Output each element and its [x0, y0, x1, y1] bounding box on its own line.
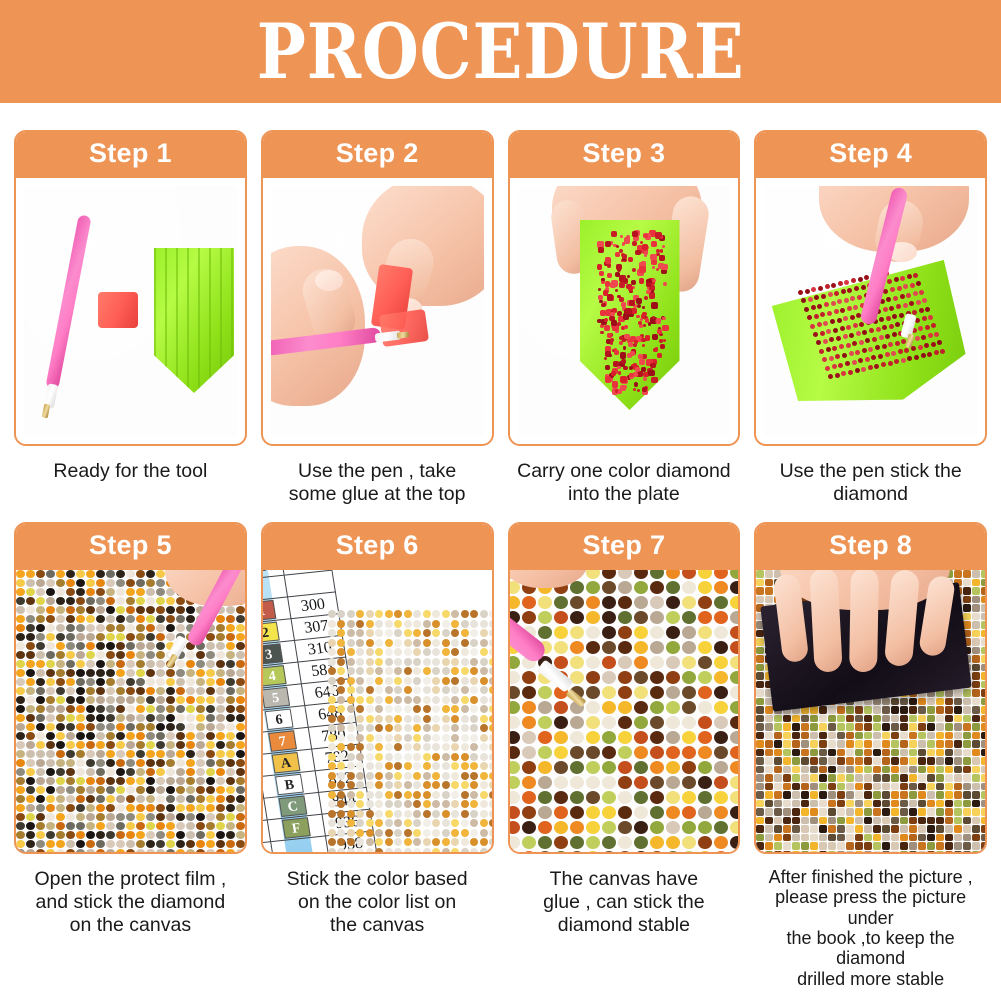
finger-icon	[849, 570, 879, 672]
diamond-bead	[375, 800, 383, 808]
diamond-bead	[756, 664, 764, 672]
diamond-bead	[819, 783, 827, 791]
diamond-bead	[873, 834, 881, 842]
diamond-bead	[922, 298, 927, 303]
diamond-bead	[650, 686, 664, 699]
diamond-bead	[828, 715, 836, 723]
diamond-bead	[570, 641, 584, 654]
diamond-bead	[849, 351, 854, 356]
diamond-bead	[36, 669, 45, 677]
diamond-bead	[634, 716, 648, 729]
diamond-bead	[16, 678, 25, 686]
diamond-bead	[226, 678, 235, 686]
diamond-bead	[356, 705, 364, 713]
diamond-bead	[126, 840, 135, 848]
diamond-bead	[337, 810, 345, 818]
diamond-bead	[892, 314, 897, 319]
diamond-bead	[470, 810, 478, 818]
diamond-bead	[730, 836, 739, 849]
diamond-bead	[927, 808, 935, 816]
diamond-bead	[586, 626, 600, 639]
diamond-bead	[66, 777, 75, 785]
diamond-bead	[909, 808, 917, 816]
diamond-bead	[882, 783, 890, 791]
diamond-bead	[522, 836, 536, 849]
diamond-bead	[470, 772, 478, 780]
diamond-bead	[489, 620, 492, 628]
diamond-bead	[634, 570, 648, 579]
diamond-bead	[844, 298, 849, 303]
diamond-bead	[347, 677, 355, 685]
diamond-bead	[356, 639, 364, 647]
diamond-bead	[470, 800, 478, 808]
diamond-bead	[919, 290, 924, 295]
diamond-bead	[522, 686, 536, 699]
diamond-bead	[522, 776, 536, 789]
diamond-bead	[356, 772, 364, 780]
diamond-bead	[489, 743, 492, 751]
diamond-bead	[586, 701, 600, 714]
diamond-bead	[730, 776, 739, 789]
diamond-bead	[86, 642, 95, 650]
diamond-bead	[972, 800, 980, 808]
diamond-bead	[650, 701, 664, 714]
diamond-bead	[106, 714, 115, 722]
diamond-bead	[116, 849, 125, 852]
diamond-bead	[819, 851, 827, 853]
diamond-bead	[432, 696, 440, 704]
diamond-bead	[637, 389, 640, 392]
diamond-bead	[206, 669, 215, 677]
diamond-bead	[413, 800, 421, 808]
diamond-bead	[66, 570, 75, 578]
diamond-bead	[461, 658, 469, 666]
diamond-bead	[236, 642, 245, 650]
diamond-bead	[423, 639, 431, 647]
diamond-bead	[226, 822, 235, 830]
diamond-bead	[216, 669, 225, 677]
diamond-bead	[632, 231, 637, 236]
diamond-bead	[166, 831, 175, 839]
diamond-bead	[394, 848, 402, 853]
diamond-bead	[106, 579, 115, 587]
diamond-bead	[629, 366, 633, 370]
diamond-bead	[347, 629, 355, 637]
diamond-bead	[328, 648, 336, 656]
diamond-bead	[765, 783, 773, 791]
diamond-bead	[442, 838, 450, 846]
diamond-bead	[936, 834, 944, 842]
diamond-bead	[783, 723, 791, 731]
diamond-bead	[385, 734, 393, 742]
diamond-bead	[814, 314, 819, 319]
diamond-bead	[385, 620, 393, 628]
diamond-bead	[126, 705, 135, 713]
diamond-bead	[76, 651, 85, 659]
diamond-bead	[918, 783, 926, 791]
diamond-bead	[56, 669, 65, 677]
diamond-bead	[96, 651, 105, 659]
diamond-bead	[586, 611, 600, 624]
diamond-bead	[818, 286, 823, 291]
diamond-bead	[442, 772, 450, 780]
diamond-bead	[366, 705, 374, 713]
diamond-bead	[931, 342, 936, 347]
diamond-bead	[936, 698, 944, 706]
diamond-bead	[36, 822, 45, 830]
diamond-bead	[823, 321, 828, 326]
diamond-bead	[554, 791, 568, 804]
diamond-bead	[963, 579, 971, 587]
diamond-bead	[918, 715, 926, 723]
diamond-bead	[126, 777, 135, 785]
diamond-bead	[56, 642, 65, 650]
diamond-bead	[461, 705, 469, 713]
diamond-bead	[774, 749, 782, 757]
diamond-bead	[328, 667, 336, 675]
diamond-bead	[337, 677, 345, 685]
diamond-bead	[136, 831, 145, 839]
diamond-bead	[653, 348, 658, 353]
diamond-bead	[963, 825, 971, 833]
diamond-bead	[26, 588, 35, 596]
diamond-bead	[891, 715, 899, 723]
chart-symbol-swatch: 4	[263, 665, 287, 686]
diamond-bead	[618, 641, 632, 654]
diamond-bead	[328, 677, 336, 685]
diamond-bead	[442, 658, 450, 666]
diamond-bead	[618, 570, 632, 579]
diamond-bead	[385, 838, 393, 846]
diamond-bead	[783, 715, 791, 723]
diamond-bead	[116, 642, 125, 650]
diamond-bead	[832, 364, 837, 369]
diamond-bead	[86, 570, 95, 578]
diamond-bead	[423, 620, 431, 628]
diamond-bead	[46, 804, 55, 812]
diamond-bead	[76, 678, 85, 686]
diamond-bead	[432, 705, 440, 713]
diamond-bead	[337, 734, 345, 742]
diamond-bead	[810, 723, 818, 731]
diamond-bead	[900, 732, 908, 740]
diamond-bead	[607, 333, 611, 337]
diamond-bead	[76, 696, 85, 704]
diamond-bead	[356, 724, 364, 732]
diamond-bead	[461, 848, 469, 853]
diamond-bead	[882, 757, 890, 765]
diamond-bead	[934, 332, 939, 337]
diamond-bead	[871, 355, 876, 360]
diamond-bead	[602, 746, 616, 759]
diamond-bead	[366, 696, 374, 704]
diamond-bead	[413, 829, 421, 837]
diamond-bead	[461, 667, 469, 675]
diamond-bead	[900, 791, 908, 799]
step-4-header: Step 4	[756, 132, 985, 178]
diamond-bead	[981, 817, 985, 825]
diamond-bead	[136, 687, 145, 695]
diamond-bead	[891, 791, 899, 799]
diamond-bead	[413, 734, 421, 742]
diamond-bead	[126, 804, 135, 812]
diamond-bead	[356, 620, 364, 628]
diamond-bead	[855, 842, 863, 850]
diamond-bead	[650, 363, 655, 368]
diamond-bead	[510, 656, 520, 669]
diamond-bead	[236, 696, 245, 704]
diamond-bead	[146, 678, 155, 686]
diamond-bead	[858, 277, 863, 282]
diamond-bead	[106, 759, 115, 767]
diamond-bead	[96, 669, 105, 677]
diamond-bead	[337, 629, 345, 637]
diamond-bead	[423, 686, 431, 694]
diamond-bead	[166, 597, 175, 605]
diamond-bead	[337, 696, 345, 704]
diamond-bead	[356, 848, 364, 853]
diamond-bead	[176, 786, 185, 794]
diamond-bead	[855, 817, 863, 825]
diamond-bead	[136, 840, 145, 848]
diamond-bead	[855, 350, 860, 355]
diamond-bead	[650, 821, 664, 834]
diamond-bead	[86, 606, 95, 614]
page-title: PROCEDURE	[257, 14, 745, 90]
diamond-bead	[196, 723, 205, 731]
diamond-bead	[106, 732, 115, 740]
diamond-bead	[404, 772, 412, 780]
diamond-bead	[936, 774, 944, 782]
diamond-bead	[634, 776, 648, 789]
diamond-bead	[196, 732, 205, 740]
diamond-bead	[46, 750, 55, 758]
diamond-bead	[394, 819, 402, 827]
diamond-bead	[328, 715, 336, 723]
diamond-bead	[714, 806, 728, 819]
diamond-bead	[963, 774, 971, 782]
diamond-bead	[837, 749, 845, 757]
diamond-bead	[847, 306, 852, 311]
diamond-bead	[106, 786, 115, 794]
diamond-bead	[126, 606, 135, 614]
diamond-bead	[176, 606, 185, 614]
diamond-bead	[698, 731, 712, 744]
diamond-bead	[954, 791, 962, 799]
diamond-bead	[36, 759, 45, 767]
diamond-bead	[774, 723, 782, 731]
diamond-bead	[347, 705, 355, 713]
diamond-bead	[882, 723, 890, 731]
diamond-bead	[489, 781, 492, 789]
diamond-bead	[451, 658, 459, 666]
diamond-bead	[873, 757, 881, 765]
diamond-bead	[16, 696, 25, 704]
diamond-bead	[86, 615, 95, 623]
chart-symbol-swatch: 5	[263, 687, 290, 708]
diamond-bead	[56, 759, 65, 767]
diamond-bead	[774, 774, 782, 782]
diamond-bead	[76, 804, 85, 812]
diamond-bead	[226, 714, 235, 722]
diamond-bead	[765, 825, 773, 833]
diamond-bead	[819, 825, 827, 833]
diamond-bead	[196, 669, 205, 677]
diamond-bead	[909, 800, 917, 808]
diamond-bead	[837, 766, 845, 774]
diamond-bead	[26, 579, 35, 587]
diamond-bead	[470, 629, 478, 637]
step-2-caption: Use the pen , take some glue at the top	[261, 446, 494, 506]
diamond-bead	[611, 231, 617, 237]
diamond-bead	[889, 306, 894, 311]
diamond-bead	[451, 667, 459, 675]
diamond-bead	[166, 624, 175, 632]
diamond-bead	[893, 296, 898, 301]
diamond-bead	[570, 611, 584, 624]
diamond-bead	[869, 328, 874, 333]
diamond-bead	[186, 786, 195, 794]
diamond-bead	[650, 596, 664, 609]
diamond-bead	[96, 768, 105, 776]
diamond-bead	[891, 749, 899, 757]
diamond-bead	[810, 757, 818, 765]
diamond-bead	[226, 633, 235, 641]
diamond-bead	[328, 781, 336, 789]
diamond-bead	[602, 686, 616, 699]
diamond-bead	[826, 347, 831, 352]
diamond-bead	[814, 295, 819, 300]
diamond-bead	[765, 732, 773, 740]
diamond-bead	[423, 715, 431, 723]
diamond-bead	[366, 743, 374, 751]
diamond-bead	[86, 786, 95, 794]
diamond-bead	[783, 740, 791, 748]
diamond-bead	[156, 759, 165, 767]
diamond-bead	[624, 334, 630, 340]
diamond-bead	[855, 783, 863, 791]
diamond-bead	[136, 678, 145, 686]
diamond-bead	[66, 786, 75, 794]
diamond-bead	[26, 750, 35, 758]
diamond-bead	[918, 749, 926, 757]
diamond-bead	[714, 761, 728, 774]
diamond-bead	[909, 698, 917, 706]
diamond-bead	[650, 731, 664, 744]
diamond-bead	[900, 766, 908, 774]
diamond-bead	[328, 829, 336, 837]
diamond-bead	[756, 825, 764, 833]
diamond-bead	[801, 842, 809, 850]
diamond-bead	[855, 800, 863, 808]
diamond-bead	[116, 588, 125, 596]
diamond-bead	[146, 714, 155, 722]
diamond-bead	[146, 660, 155, 668]
diamond-bead	[972, 842, 980, 850]
diamond-bead	[625, 308, 632, 315]
diamond-bead	[855, 706, 863, 714]
diamond-bead	[442, 819, 450, 827]
diamond-bead	[730, 791, 739, 804]
diamond-bead	[356, 677, 364, 685]
diamond-bead	[216, 651, 225, 659]
diamond-bead	[714, 596, 728, 609]
diamond-bead	[226, 741, 235, 749]
diamond-bead	[644, 296, 648, 300]
diamond-bead	[489, 667, 492, 675]
diamond-bead	[375, 648, 383, 656]
diamond-bead	[236, 633, 245, 641]
diamond-bead	[470, 762, 478, 770]
diamond-bead	[86, 588, 95, 596]
diamond-bead	[963, 740, 971, 748]
diamond-bead	[616, 264, 623, 271]
diamond-bead	[489, 810, 492, 818]
diamond-bead	[26, 849, 35, 852]
diamond-bead	[66, 705, 75, 713]
step-card-3: Step 3 Carry one color diamond	[508, 130, 741, 506]
diamond-bead	[730, 671, 739, 684]
diamond-bead	[835, 373, 840, 378]
diamond-bead	[765, 749, 773, 757]
diamond-bead	[846, 791, 854, 799]
diamond-bead	[882, 706, 890, 714]
step-6-header: Step 6	[263, 524, 492, 570]
diamond-bead	[810, 825, 818, 833]
diamond-bead	[887, 279, 892, 284]
diamond-bead	[819, 715, 827, 723]
diamond-bead	[878, 354, 883, 359]
diamond-bead	[882, 791, 890, 799]
diamond-bead	[136, 804, 145, 812]
diamond-bead	[106, 597, 115, 605]
diamond-bead	[660, 249, 663, 252]
diamond-bead	[765, 570, 773, 578]
diamond-bead	[972, 851, 980, 853]
diamond-bead	[682, 596, 696, 609]
diamond-bead	[442, 781, 450, 789]
step-5-header: Step 5	[16, 524, 245, 570]
diamond-bead	[46, 588, 55, 596]
diamond-bead	[618, 851, 632, 852]
diamond-bead	[801, 715, 809, 723]
diamond-bead	[639, 266, 646, 273]
diamond-bead	[963, 783, 971, 791]
diamond-bead	[146, 813, 155, 821]
diamond-bead	[918, 808, 926, 816]
diamond-bead	[945, 808, 953, 816]
diamond-bead	[756, 681, 764, 689]
diamond-bead	[666, 701, 680, 714]
diamond-bead	[900, 740, 908, 748]
diamond-bead	[206, 696, 215, 704]
diamond-bead	[176, 624, 185, 632]
diamond-bead	[347, 743, 355, 751]
diamond-bead	[981, 740, 985, 748]
diamond-bead	[604, 318, 608, 322]
diamond-bead	[432, 743, 440, 751]
diamond-bead	[810, 766, 818, 774]
diamond-bead	[156, 741, 165, 749]
diamond-bead	[876, 327, 881, 332]
diamond-bead	[844, 280, 849, 285]
diamond-bead	[106, 849, 115, 852]
diamond-bead	[909, 825, 917, 833]
diamond-bead	[46, 795, 55, 803]
step-3-header: Step 3	[510, 132, 739, 178]
diamond-bead	[136, 588, 145, 596]
diamond-bead	[864, 757, 872, 765]
